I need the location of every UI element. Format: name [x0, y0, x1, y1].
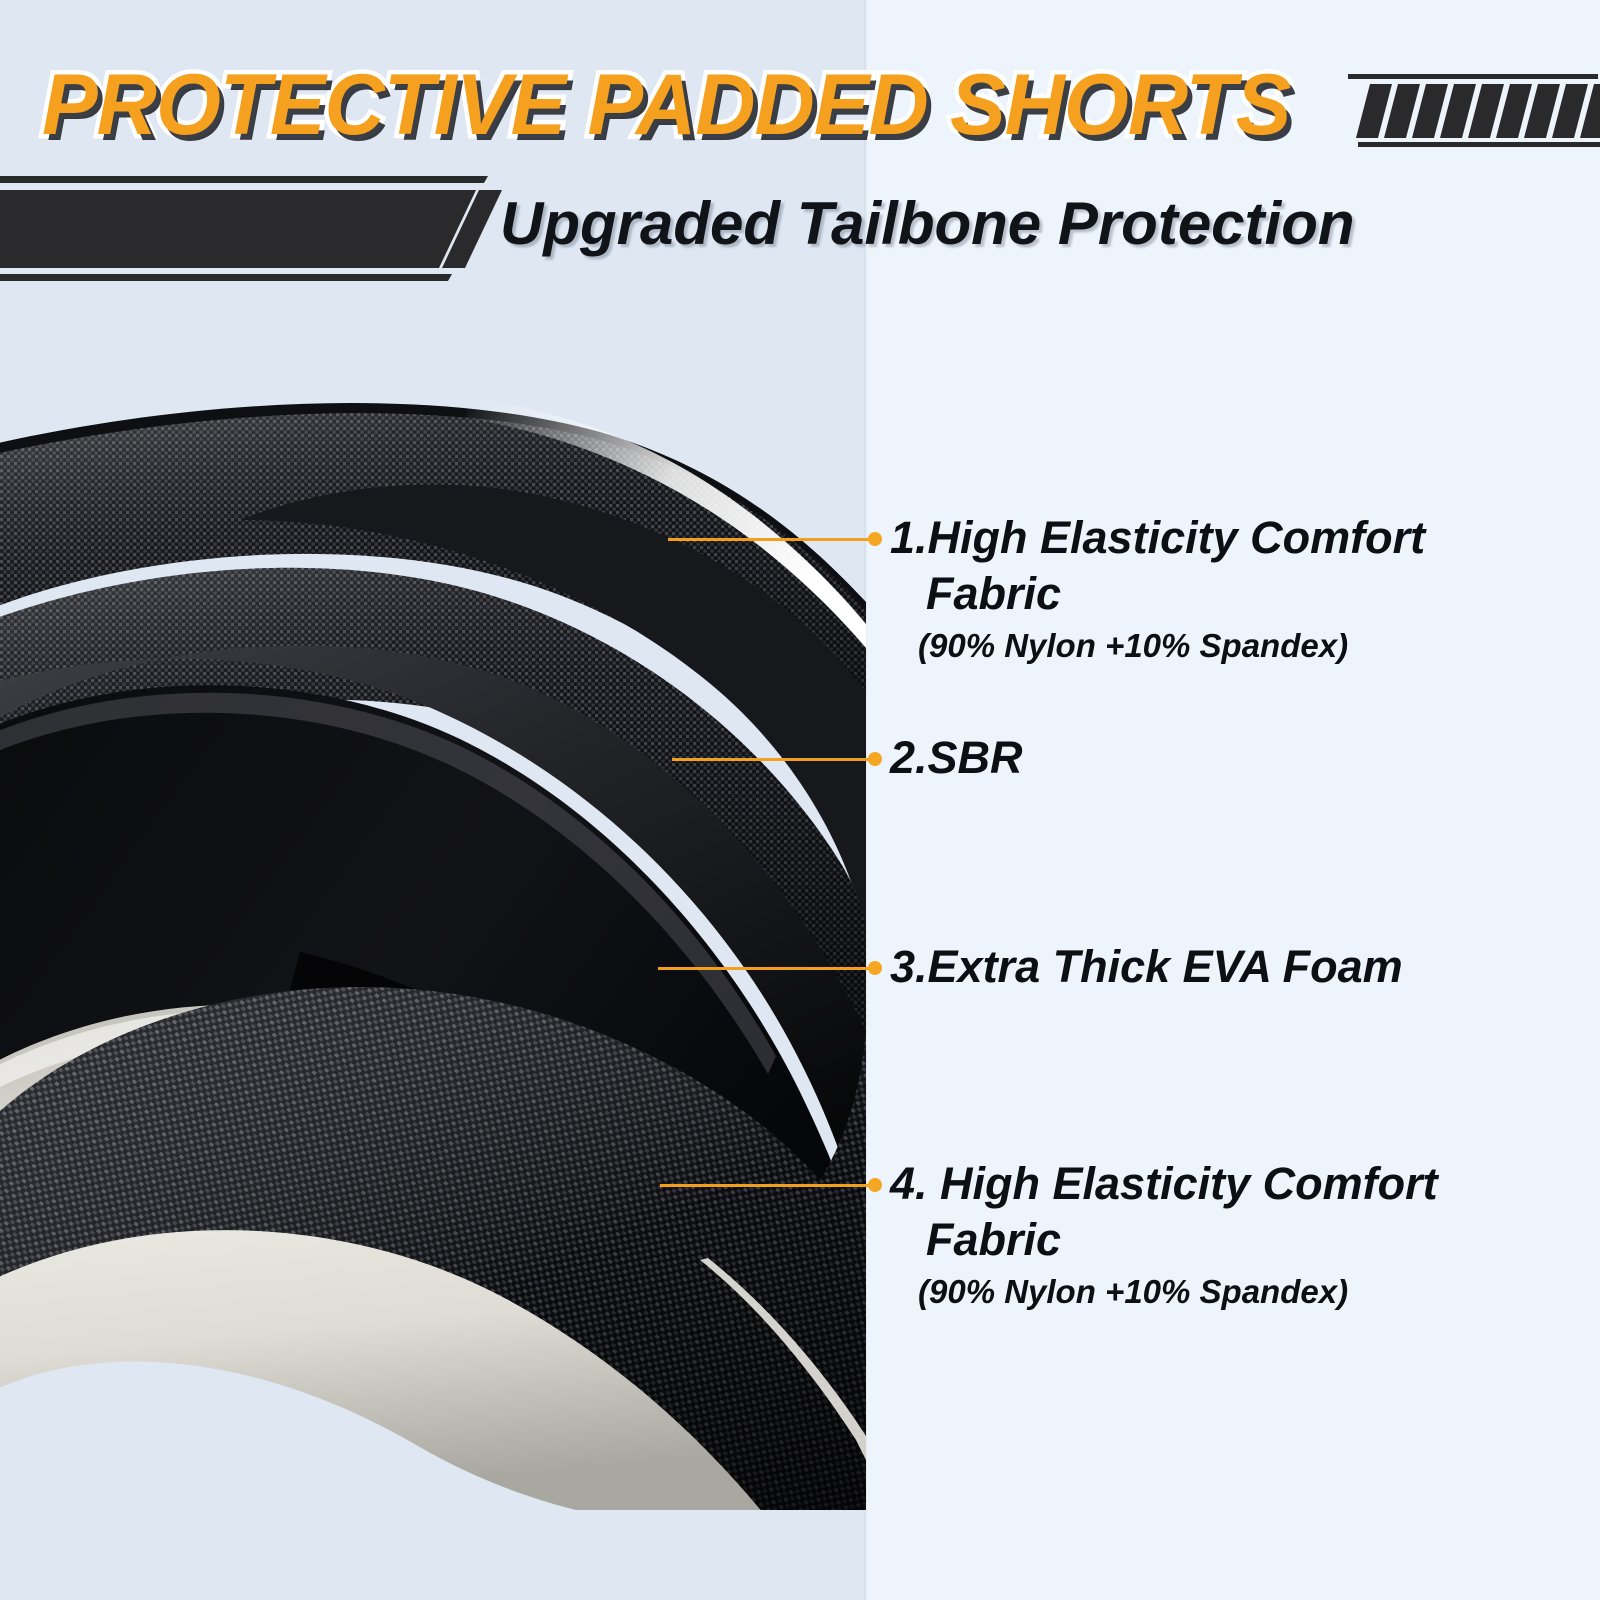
callout-4-title-line2: Fabric [890, 1212, 1438, 1268]
callout-3-title-line1: 3.Extra Thick EVA Foam [890, 939, 1403, 995]
infographic-canvas: PROTECTIVE PADDED SHORTS [0, 0, 1600, 1600]
callout-2: 2.SBR [890, 730, 1023, 786]
callout-3: 3.Extra Thick EVA Foam [890, 939, 1403, 995]
callout-1-title-line2: Fabric [890, 566, 1425, 622]
callout-1-title-line1: 1.High Elasticity Comfort [890, 510, 1425, 566]
callout-2-title-line1: 2.SBR [890, 730, 1023, 786]
product-layers-image [0, 392, 866, 1512]
leader-line-1 [668, 532, 888, 546]
callout-1: 1.High Elasticity Comfort Fabric (90% Ny… [890, 510, 1425, 668]
page-subtitle: Upgraded Tailbone Protection [500, 186, 1355, 262]
leader-line-4 [660, 1178, 888, 1192]
diagonal-stripe-decoration [1344, 72, 1600, 150]
callout-4-title-line1: 4. High Elasticity Comfort [890, 1156, 1438, 1212]
callout-1-subtext: (90% Nylon +10% Spandex) [890, 624, 1425, 668]
leader-line-2 [672, 752, 888, 766]
callout-4: 4. High Elasticity Comfort Fabric (90% N… [890, 1156, 1438, 1314]
page-title: PROTECTIVE PADDED SHORTS [42, 60, 1290, 150]
subtitle-banner-shape [0, 176, 510, 282]
callout-4-subtext: (90% Nylon +10% Spandex) [890, 1270, 1438, 1314]
leader-line-3 [658, 961, 888, 975]
